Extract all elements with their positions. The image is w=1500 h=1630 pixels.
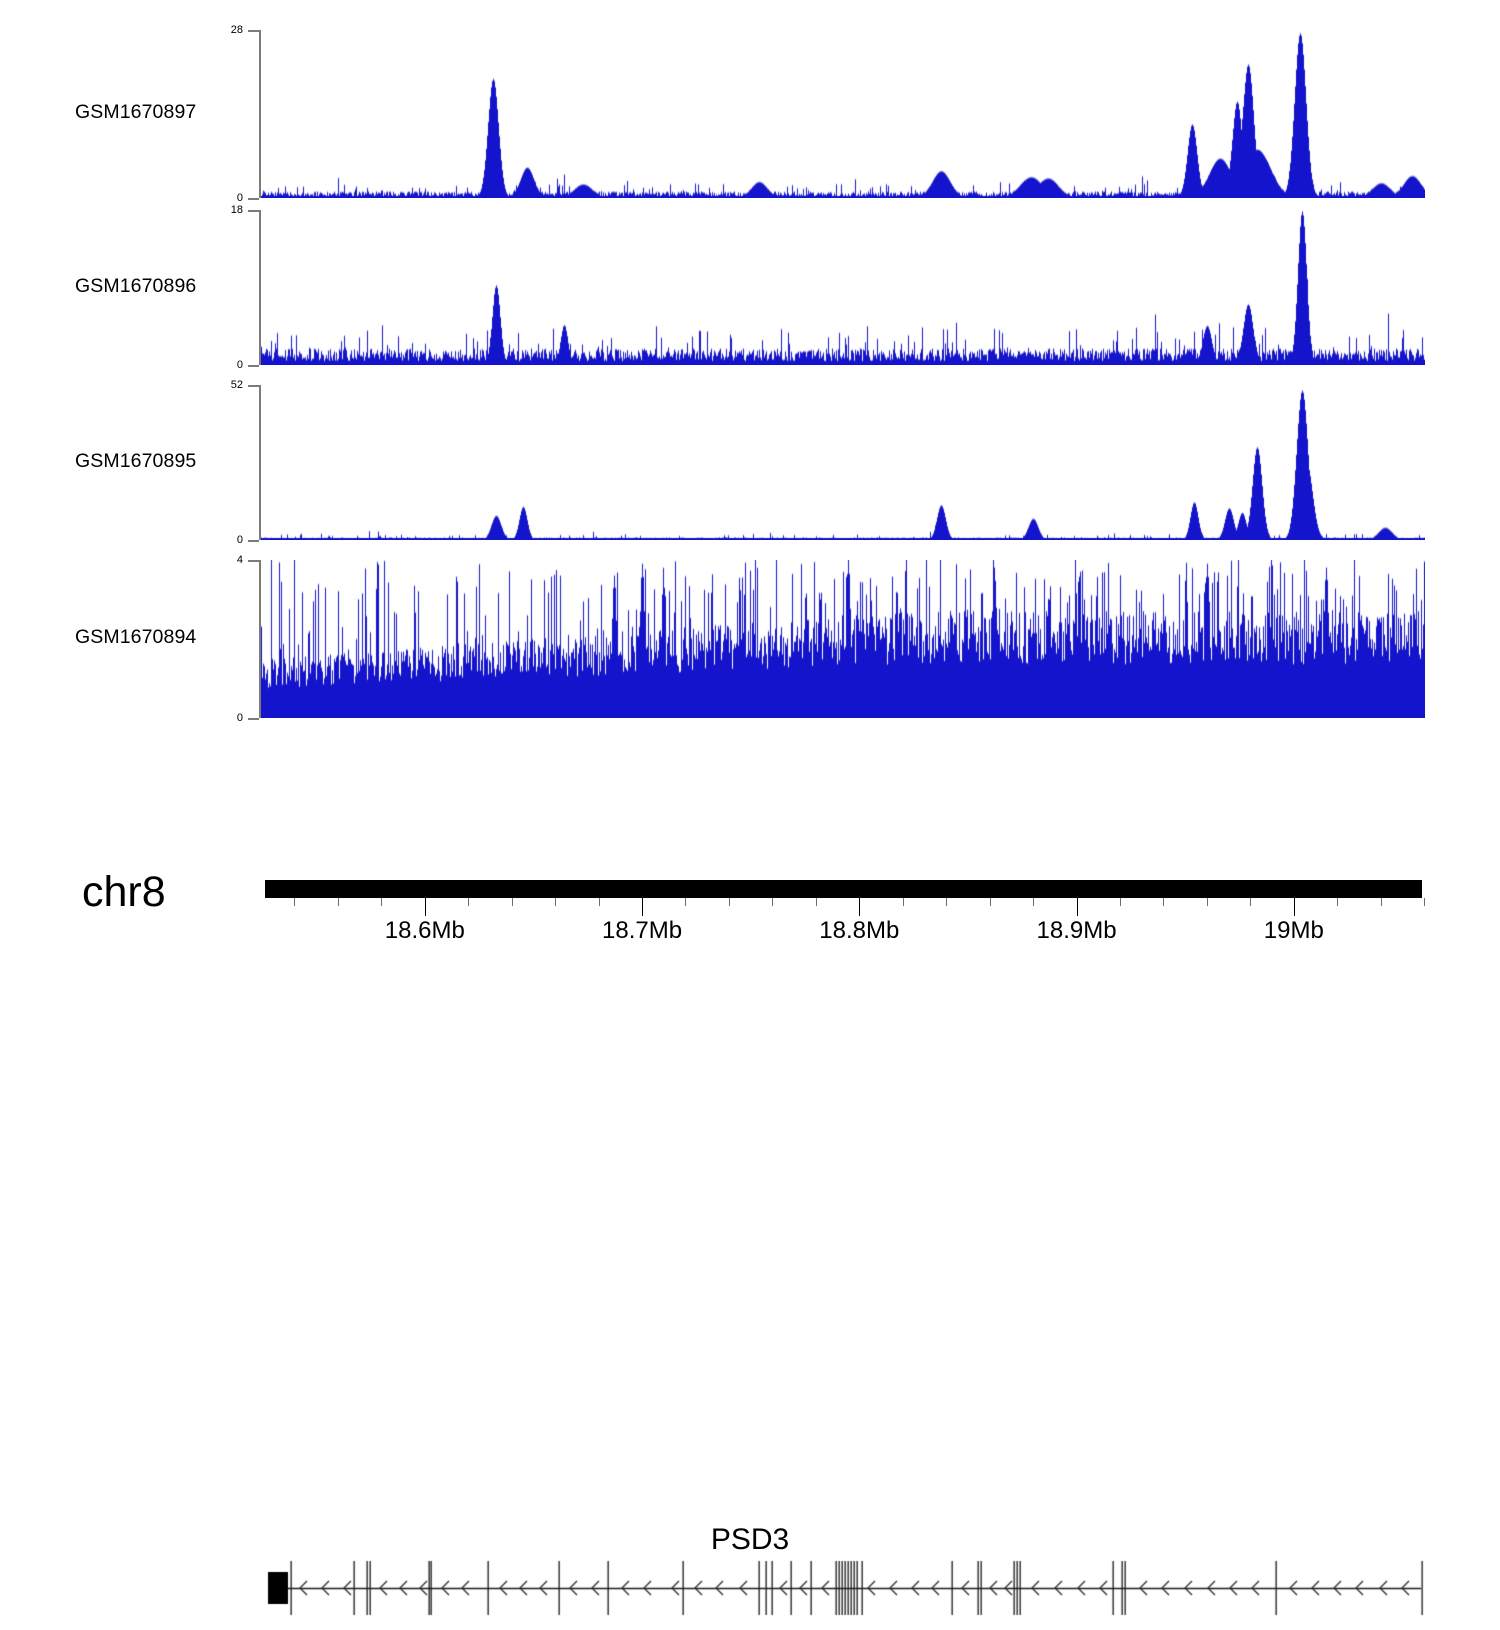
ruler-tick-minor	[1250, 898, 1251, 906]
ruler-tick-major	[859, 898, 860, 916]
ruler-tick-minor	[381, 898, 382, 906]
ruler-tick-minor	[338, 898, 339, 906]
ruler-tick-minor	[294, 898, 295, 906]
ruler-tick-minor	[816, 898, 817, 906]
ruler-tick-minor	[729, 898, 730, 906]
y-axis-value-min: 0	[203, 360, 243, 371]
coverage-plot-gsm1670897[interactable]	[261, 30, 1425, 198]
ruler-label: 18.7Mb	[602, 917, 682, 945]
ruler-tick-minor	[1207, 898, 1208, 906]
y-axis-tick-min	[248, 540, 259, 542]
ruler-tick-minor	[555, 898, 556, 906]
y-axis-value-max: 4	[203, 555, 243, 566]
gene-model-track[interactable]	[261, 1555, 1425, 1625]
gene-model-panel: PSD3	[0, 755, 1500, 880]
ruler-label: 19Mb	[1264, 917, 1324, 945]
track-label-gsm1670894: GSM1670894	[75, 626, 196, 649]
ruler-label: 18.9Mb	[1037, 917, 1117, 945]
y-axis-value-min: 0	[203, 713, 243, 724]
track-label-gsm1670895: GSM1670895	[75, 450, 196, 473]
y-axis-value-max: 18	[203, 205, 243, 216]
ruler-tick-minor	[1033, 898, 1034, 906]
ruler-tick-major	[425, 898, 426, 916]
gene-name-label: PSD3	[0, 1523, 1500, 1557]
track-label-gsm1670896: GSM1670896	[75, 275, 196, 298]
ruler-tick-minor	[946, 898, 947, 906]
ruler-tick-minor	[685, 898, 686, 906]
ruler-tick-major	[642, 898, 643, 916]
ruler-tick-minor	[1120, 898, 1121, 906]
y-axis-tick-min	[248, 198, 259, 200]
ruler-label: 18.8Mb	[819, 917, 899, 945]
ruler-label: 18.6Mb	[385, 917, 465, 945]
coordinate-ruler[interactable]: 18.6Mb18.7Mb18.8Mb18.9Mb19Mb	[261, 898, 1425, 953]
y-axis-tick-max	[248, 560, 259, 562]
y-axis-tick-max	[248, 385, 259, 387]
ruler-tick-minor	[990, 898, 991, 906]
ruler-tick-major	[1294, 898, 1295, 916]
ruler-tick-minor	[1337, 898, 1338, 906]
ruler-tick-minor	[903, 898, 904, 906]
coverage-plot-gsm1670894[interactable]	[261, 560, 1425, 718]
ruler-tick-major	[1077, 898, 1078, 916]
y-axis-tick-min	[248, 365, 259, 367]
chromosome-label: chr8	[82, 868, 166, 917]
ruler-tick-minor	[1163, 898, 1164, 906]
y-axis-tick-max	[248, 30, 259, 32]
genome-browser: GSM1670897280 GSM1670896180 GSM167089552…	[0, 0, 1500, 980]
y-axis-value-min: 0	[203, 535, 243, 546]
track-label-gsm1670897: GSM1670897	[75, 101, 196, 124]
y-axis-value-max: 28	[203, 25, 243, 36]
ruler-tick-minor	[599, 898, 600, 906]
ruler-tick-minor	[772, 898, 773, 906]
chromosome-ideogram[interactable]	[265, 880, 1422, 898]
ruler-tick-minor	[1381, 898, 1382, 906]
y-axis-tick-max	[248, 210, 259, 212]
ruler-tick-minor	[512, 898, 513, 906]
ruler-tick-minor	[468, 898, 469, 906]
coverage-plot-gsm1670895[interactable]	[261, 385, 1425, 540]
y-axis-value-max: 52	[203, 380, 243, 391]
y-axis-value-min: 0	[203, 193, 243, 204]
coverage-plot-gsm1670896[interactable]	[261, 210, 1425, 365]
y-axis-tick-min	[248, 718, 259, 720]
ruler-tick-minor	[1424, 898, 1425, 906]
